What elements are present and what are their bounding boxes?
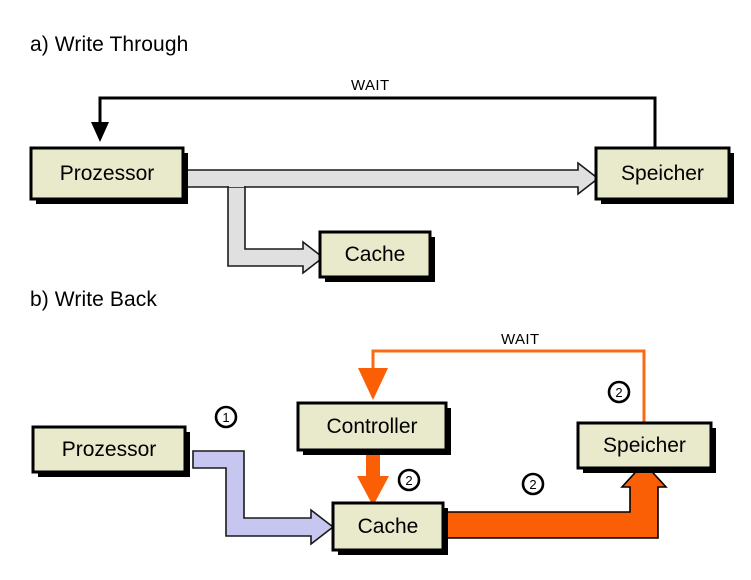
b-cache-speicher-arrow bbox=[423, 463, 666, 538]
b-box-cache bbox=[333, 503, 448, 555]
b-step-number-2-speicher-wait: 2 bbox=[608, 381, 630, 403]
a-box-prozessor bbox=[31, 148, 188, 204]
diagram-canvas: a) Write Through b) Write Back .bx { fil… bbox=[0, 0, 751, 580]
a-box-cache bbox=[320, 232, 435, 282]
b-label-wait: WAIT bbox=[501, 331, 540, 348]
b-controller-cache-arrow bbox=[357, 455, 389, 506]
b-box-controller bbox=[298, 403, 451, 455]
a-wait-path bbox=[91, 98, 655, 149]
a-label-wait: WAIT bbox=[351, 77, 390, 94]
b-step-number-1: 1 bbox=[215, 406, 237, 428]
b-box-prozessor bbox=[33, 427, 190, 477]
a-box-speicher bbox=[596, 148, 734, 204]
b-step-number-2-cache-speicher: 2 bbox=[522, 473, 544, 495]
b-step-number-2-controller-cache: 2 bbox=[398, 469, 420, 491]
b-proc-cache-arrow bbox=[193, 451, 333, 544]
b-box-speicher bbox=[578, 423, 716, 473]
